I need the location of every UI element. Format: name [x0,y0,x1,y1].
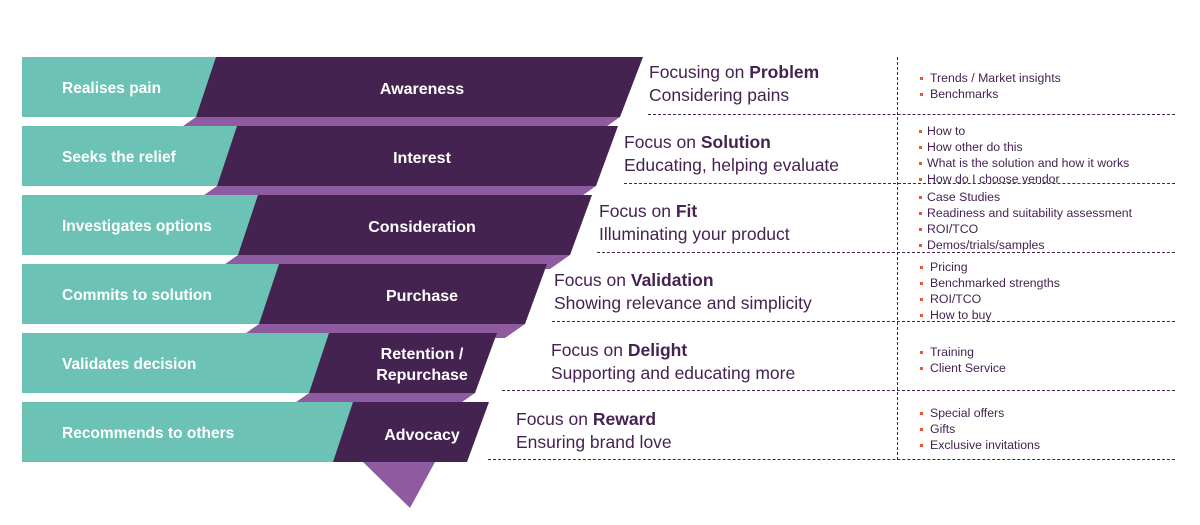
focus-keyword-5: Delight [628,340,687,360]
row-divider-1 [648,114,1175,115]
focus-keyword-2: Solution [701,132,771,152]
content-list-3: Case Studies Readiness and suitability a… [919,190,1132,254]
focus-cell-3: Focus on Fit Illuminating your product [599,200,790,246]
focus-detail-3: Illuminating your product [599,223,790,246]
list-item: Benchmarked strengths [919,276,1060,292]
content-cell-6: Special offers Gifts Exclusive invitatio… [919,406,1040,454]
funnel-tip-arrow [363,462,435,508]
list-item: Demos/trials/samples [919,238,1132,254]
list-item: How to [919,124,1129,140]
stage-name-label-3: Consideration [368,219,476,236]
focus-keyword-3: Fit [676,201,697,221]
focus-detail-6: Ensuring brand love [516,431,672,454]
content-cell-1: Trends / Market insights Benchmarks [919,71,1061,103]
row-divider-5 [502,390,1175,391]
content-cell-5: Training Client Service [919,345,1006,377]
row-divider-6 [488,459,1175,460]
list-item: Exclusive invitations [919,438,1040,454]
buyer-state-label-6: Recommends to others [62,425,234,442]
buyer-state-label-4: Commits to solution [62,287,212,304]
content-cell-2: How to How other do this What is the sol… [919,124,1129,188]
list-item: Client Service [919,361,1006,377]
list-item: ROI/TCO [919,222,1132,238]
list-item: Training [919,345,1006,361]
content-cell-4: Pricing Benchmarked strengths ROI/TCO Ho… [919,260,1060,324]
stage-name-label-1: Awareness [380,81,464,98]
buyer-state-label-2: Seeks the relief [62,149,177,166]
row-divider-4 [552,321,1175,322]
focus-keyword-6: Reward [593,409,656,429]
list-item: Pricing [919,260,1060,276]
list-item: Special offers [919,406,1040,422]
focus-cell-5: Focus on Delight Supporting and educatin… [551,339,795,385]
focus-cell-6: Focus on Reward Ensuring brand love [516,408,672,454]
stage-name-label-2: Interest [393,150,451,167]
list-item: What is the solution and how it works [919,156,1129,172]
focus-cell-1: Focusing on Problem Considering pains [649,61,819,107]
content-list-1: Trends / Market insights Benchmarks [919,71,1061,103]
focus-detail-1: Considering pains [649,84,819,107]
focus-detail-2: Educating, helping evaluate [624,154,839,177]
funnel-segment-5 [309,333,497,393]
focus-keyword-1: Problem [749,62,819,82]
content-list-4: Pricing Benchmarked strengths ROI/TCO Ho… [919,260,1060,324]
stage-name-label-4: Purchase [386,288,458,305]
list-item: Readiness and suitability assessment [919,206,1132,222]
focus-cell-4: Focus on Validation Showing relevance an… [554,269,812,315]
column-divider-vertical [897,57,898,460]
focus-detail-4: Showing relevance and simplicity [554,292,812,315]
list-item: ROI/TCO [919,292,1060,308]
list-item: How to buy [919,308,1060,324]
focus-prefix-5: Focus on [551,340,628,360]
content-list-5: Training Client Service [919,345,1006,377]
buyer-state-label-5: Validates decision [62,356,196,373]
list-item: How other do this [919,140,1129,156]
buyer-state-label-1: Realises pain [62,80,161,97]
focus-prefix-4: Focus on [554,270,631,290]
focus-prefix-1: Focusing on [649,62,749,82]
list-item: How do I choose vendor [919,172,1129,188]
focus-prefix-3: Focus on [599,201,676,221]
focus-detail-5: Supporting and educating more [551,362,795,385]
list-item: Gifts [919,422,1040,438]
focus-keyword-4: Validation [631,270,714,290]
list-item: Trends / Market insights [919,71,1061,87]
funnel-diagram: Realises pain Seeks the relief Investiga… [0,0,1200,525]
focus-prefix-2: Focus on [624,132,701,152]
content-cell-3: Case Studies Readiness and suitability a… [919,190,1132,254]
stage-name-label-5a: Retention / [381,346,464,363]
focus-prefix-6: Focus on [516,409,593,429]
list-item: Case Studies [919,190,1132,206]
focus-cell-2: Focus on Solution Educating, helping eva… [624,131,839,177]
buyer-state-label-3: Investigates options [62,218,212,235]
stage-name-label-6: Advocacy [384,427,460,444]
content-list-6: Special offers Gifts Exclusive invitatio… [919,406,1040,454]
content-list-2: How to How other do this What is the sol… [919,124,1129,188]
stage-name-label-5b: Repurchase [376,367,468,384]
list-item: Benchmarks [919,87,1061,103]
